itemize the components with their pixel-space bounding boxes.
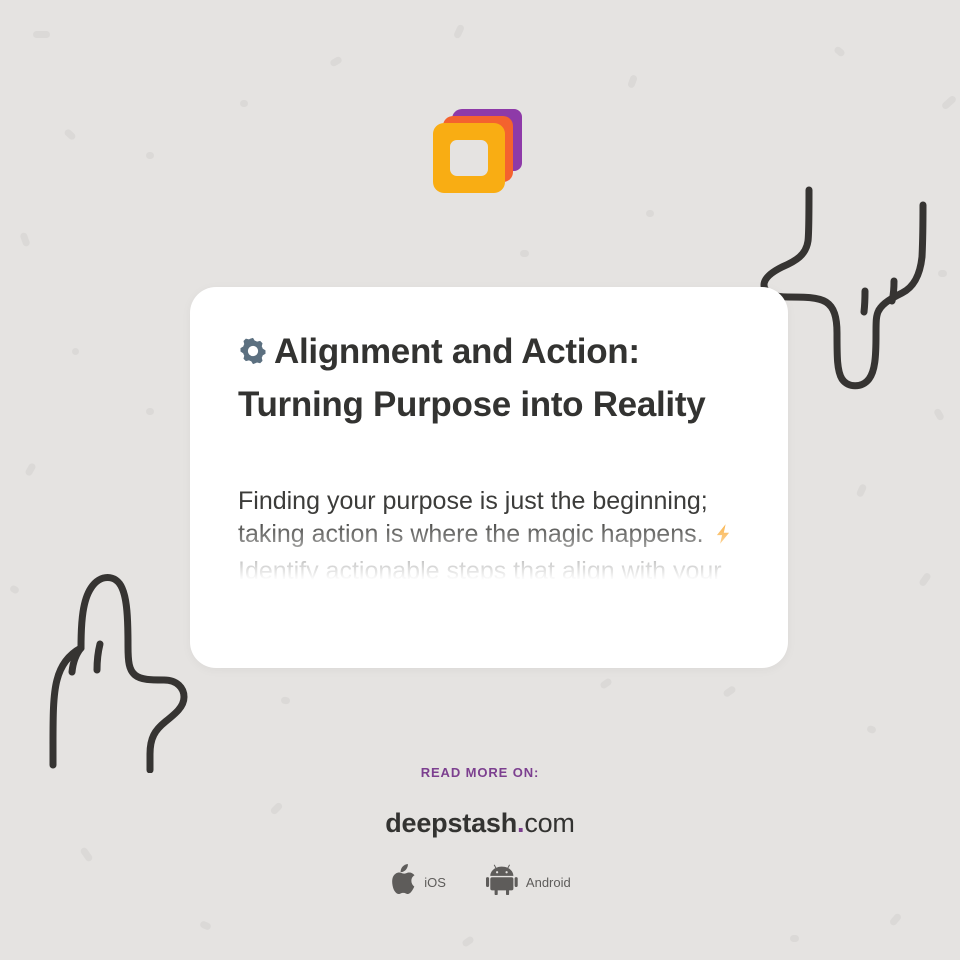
read-more-label: READ MORE ON: <box>0 765 960 780</box>
background-particle <box>329 55 343 67</box>
platform-row: iOS Android <box>0 864 960 900</box>
platform-android-label: Android <box>526 875 571 890</box>
wordmark-tld: com <box>524 808 574 838</box>
background-particle <box>280 696 290 704</box>
background-particle <box>19 232 30 248</box>
background-particle <box>9 584 20 595</box>
background-particle <box>72 348 79 355</box>
card-content: Alignment and Action: Turning Purpose in… <box>190 287 788 621</box>
idea-body-text-2: Identify actionable steps that align wit… <box>238 557 724 618</box>
background-particle <box>461 935 475 948</box>
background-particle <box>520 250 529 257</box>
pointing-hand-left-doodle <box>18 558 193 778</box>
idea-card[interactable]: Alignment and Action: Turning Purpose in… <box>190 287 788 668</box>
background-particle <box>146 152 154 159</box>
background-particle <box>866 725 877 735</box>
platform-ios[interactable]: iOS <box>389 864 446 900</box>
deepstash-wordmark[interactable]: deepstash.com <box>0 808 960 839</box>
background-particle <box>33 31 50 38</box>
footer: READ MORE ON: deepstash.com iOS <box>0 765 960 900</box>
background-particle <box>240 100 248 107</box>
background-particle <box>918 572 932 587</box>
apple-icon <box>389 864 416 900</box>
background-particle <box>453 24 465 40</box>
background-particle <box>24 462 37 477</box>
platform-ios-label: iOS <box>424 875 446 890</box>
idea-title-text: Alignment and Action: Turning Purpose in… <box>238 332 705 424</box>
android-icon <box>486 864 518 900</box>
background-particle <box>722 685 737 698</box>
background-particle <box>833 45 846 57</box>
platform-android[interactable]: Android <box>486 864 571 900</box>
background-particle <box>199 920 212 931</box>
high-voltage-icon <box>711 522 735 555</box>
gear-icon <box>238 330 268 380</box>
background-particle <box>790 935 799 942</box>
idea-body-text-1: Finding your purpose is just the beginni… <box>238 487 708 548</box>
idea-title: Alignment and Action: Turning Purpose in… <box>238 327 740 430</box>
deepstash-logo <box>430 103 526 199</box>
background-particle <box>646 210 654 217</box>
background-particle <box>938 270 947 277</box>
background-particle <box>146 408 154 415</box>
background-particle <box>627 74 638 89</box>
background-particle <box>941 95 958 111</box>
background-particle <box>933 408 945 422</box>
background-particle <box>63 128 77 141</box>
background-particle <box>889 912 903 926</box>
background-particle <box>599 677 613 690</box>
background-particle <box>856 483 868 498</box>
idea-body: Finding your purpose is just the beginni… <box>238 430 740 621</box>
wordmark-name: deepstash <box>385 808 517 838</box>
